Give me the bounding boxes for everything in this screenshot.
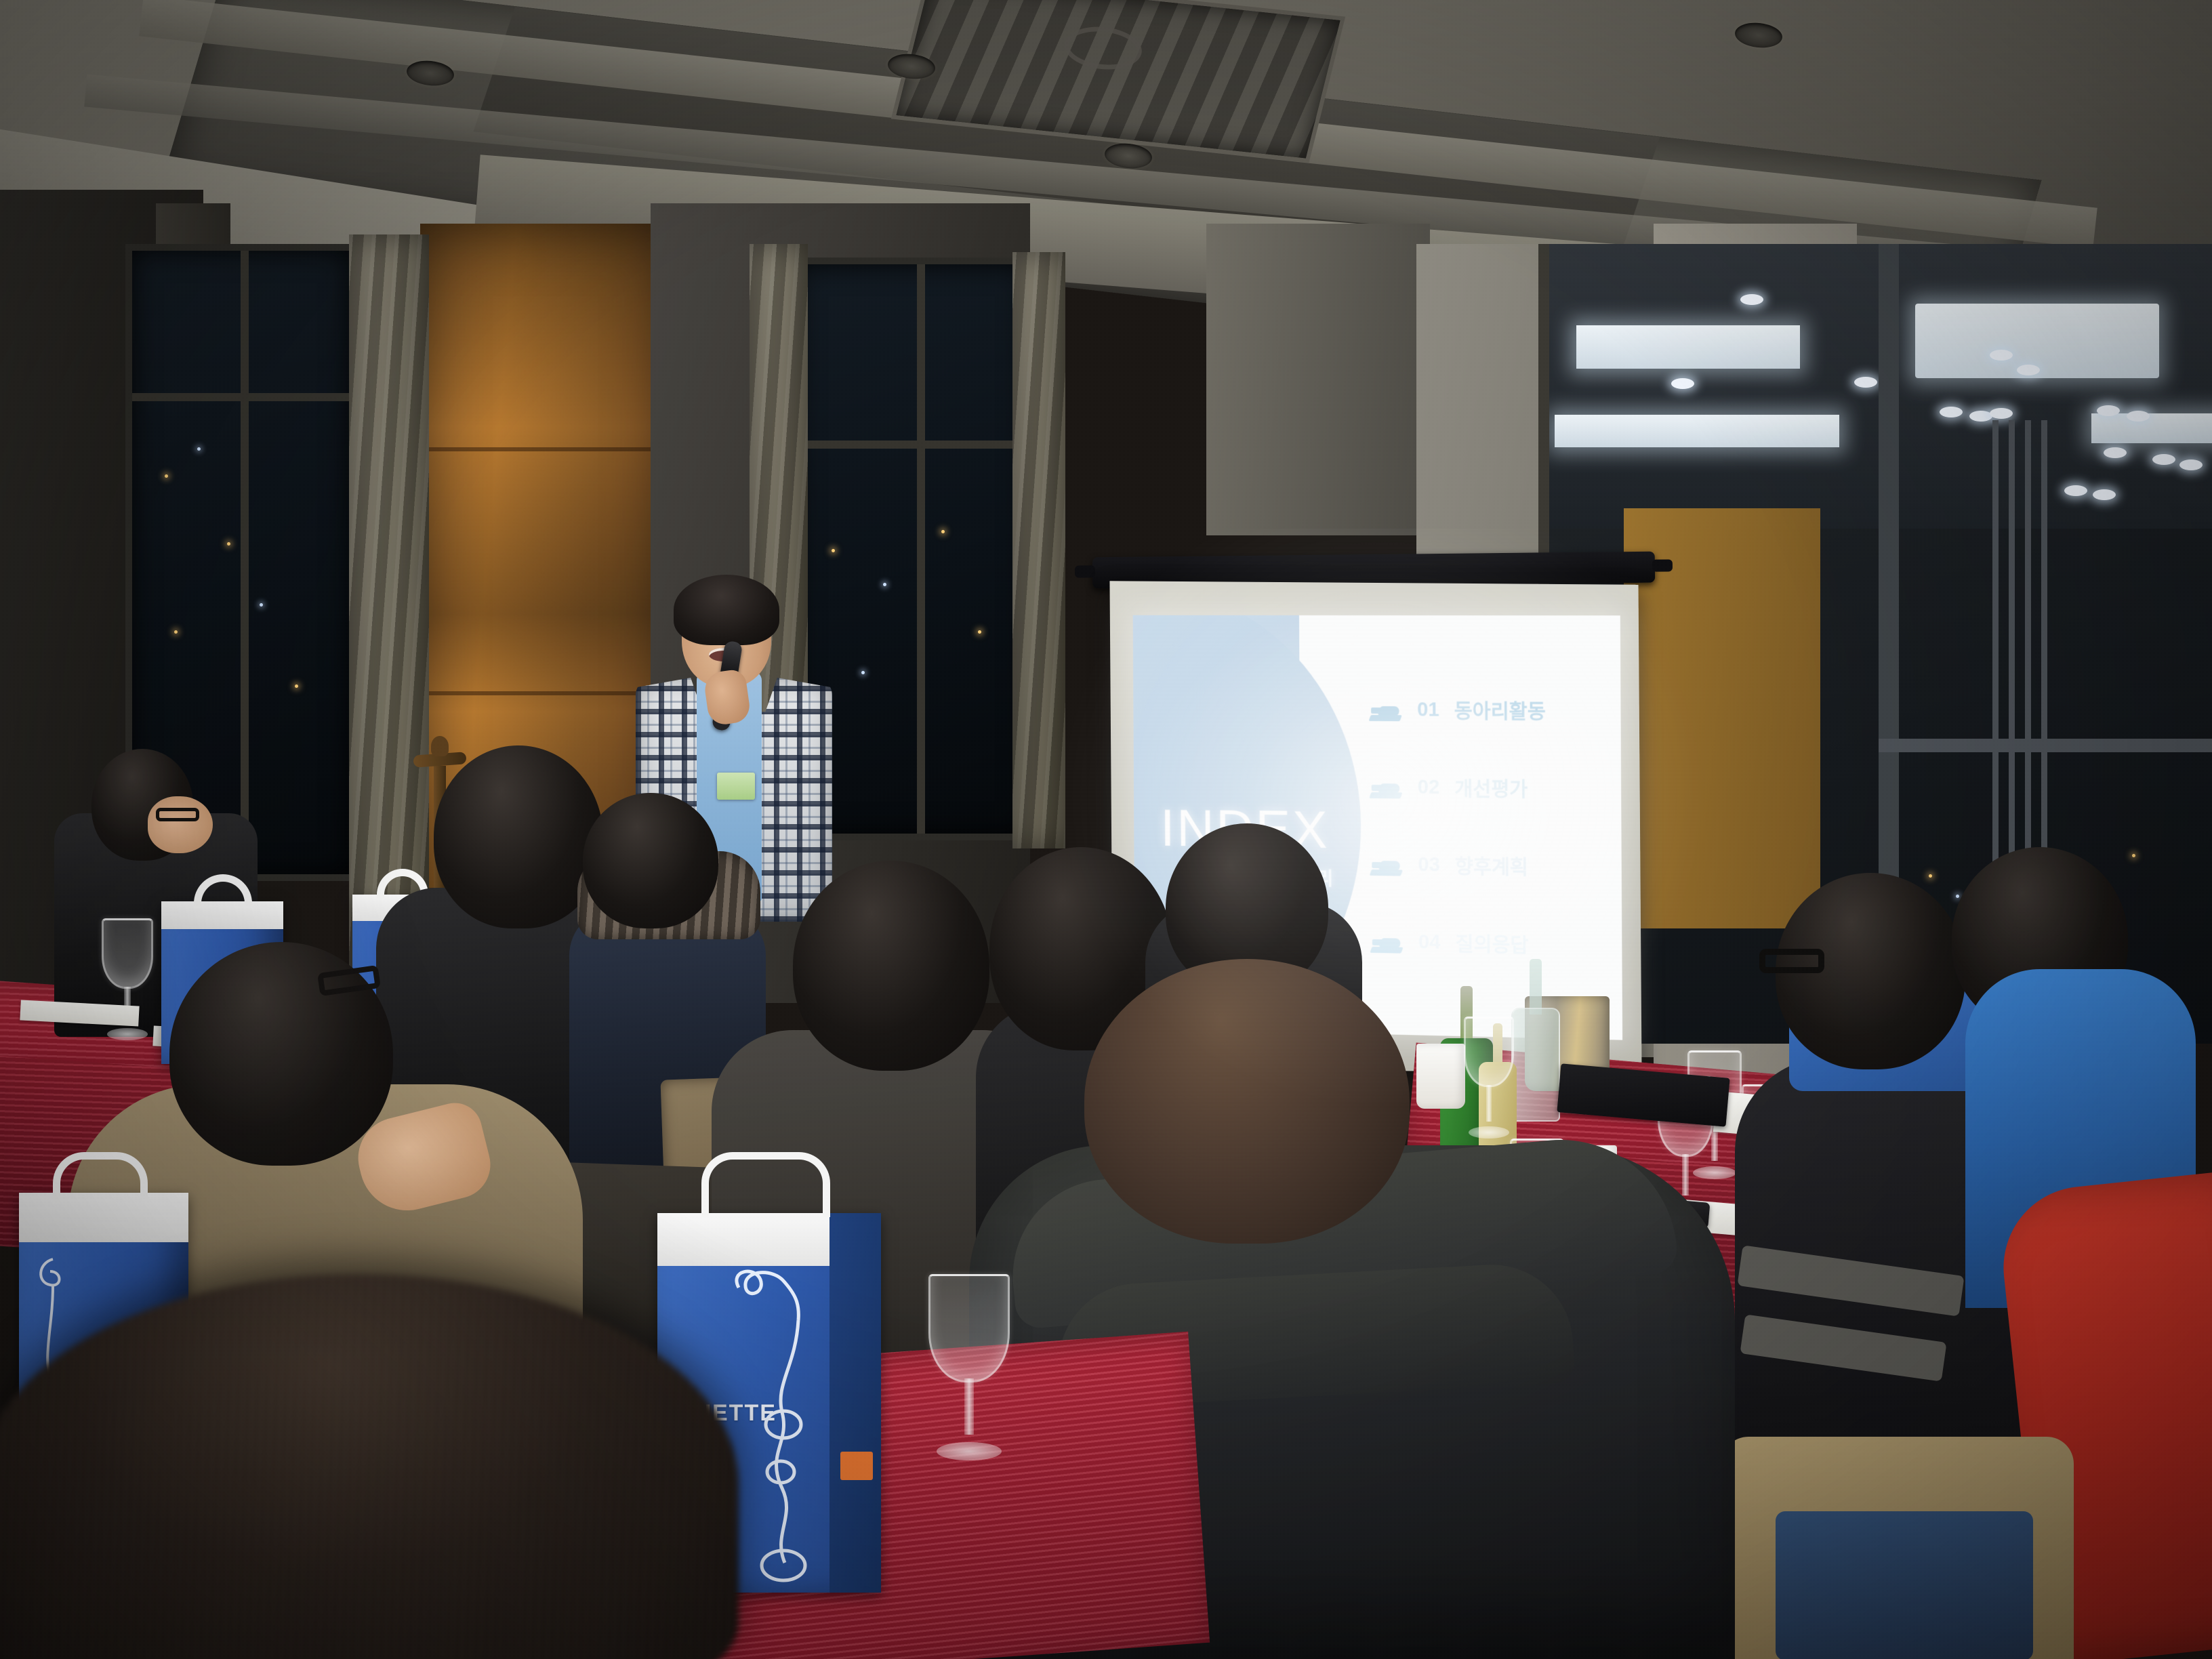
slide-index-item-number: 02 [1418,776,1440,798]
attendee-head [583,793,718,928]
clear-water-bottle [1511,959,1560,1122]
slide-index-item-label: 향후계획 [1455,851,1528,881]
chevron-mountain-icon [1369,853,1403,876]
slide-index-item: 01 동아리활동 [1368,695,1615,725]
slide-index-item-number: 03 [1418,853,1440,876]
photo-scene: INDEX 99분 토론동아리 01 동아리활동 02 개선평가 03 향후계획… [0,0,2212,1659]
bag-handle [701,1152,830,1217]
attendee-suit-face [148,796,213,853]
eyeglasses-icon [1759,949,1824,973]
eyeglasses-icon [156,808,199,821]
slide-index-item-label: 동아리활동 [1454,696,1546,725]
attendee-jeans [1776,1511,2033,1659]
slide-index-item-label: 질의응답 [1455,928,1528,958]
wine-glass [928,1274,1010,1460]
foreground-attendee-head [1084,959,1410,1244]
slide-index-item-number: 01 [1417,699,1439,721]
slide-index-item-number: 04 [1418,931,1441,954]
slide-index-item: 02 개선평가 [1369,773,1616,804]
paper-cup [1416,1044,1465,1109]
presenter-hair [674,575,779,645]
slide-index-item: 04 질의응답 [1370,927,1616,960]
wall-column-right [1206,224,1430,535]
curtain-center-right [1012,252,1065,848]
slide-index-item: 03 향후계획 [1369,850,1616,882]
chevron-mountain-icon [1369,775,1403,799]
wine-glass [1464,1017,1514,1139]
bag-handle [53,1152,148,1204]
slide-index-item-label: 개선평가 [1454,773,1528,802]
attendee-head [793,861,989,1071]
chevron-mountain-icon [1368,698,1402,721]
presenter-name-badge [717,773,755,800]
chevron-mountain-icon [1370,930,1404,954]
slide-index-list: 01 동아리활동 02 개선평가 03 향후계획 04 질의응답 [1368,695,1617,1010]
